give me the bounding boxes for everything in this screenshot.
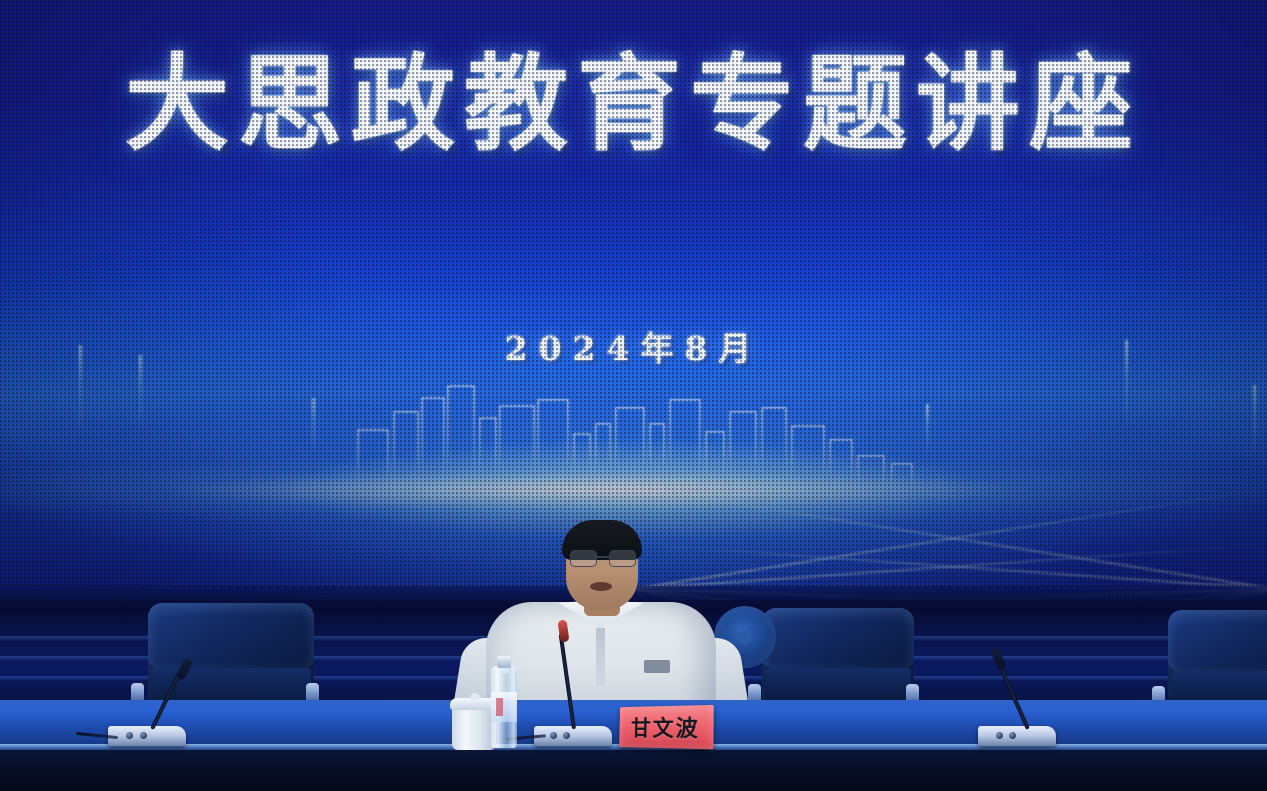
bottle-label: [491, 692, 517, 722]
chair-left-1: [148, 603, 314, 715]
conference-microphone[interactable]: [108, 700, 228, 746]
microphone-button[interactable]: [550, 732, 557, 739]
microphone-button[interactable]: [126, 732, 133, 739]
microphone-button[interactable]: [563, 732, 570, 739]
name-plate-text: 甘文波: [631, 710, 700, 743]
eyeglasses-icon: [570, 550, 634, 565]
slide-title: 大思政教育专题讲座: [0, 48, 1267, 160]
microphone-base[interactable]: [978, 726, 1056, 746]
water-bottle: [491, 650, 517, 748]
conference-microphone[interactable]: [978, 700, 1098, 746]
microphone-button[interactable]: [996, 732, 1003, 739]
chair-right-1: [762, 608, 914, 712]
slide-date: 2024年8月: [0, 322, 1267, 370]
bottle-cap: [497, 656, 511, 668]
microphone-button[interactable]: [1009, 732, 1016, 739]
presidium-desk-front: [0, 750, 1267, 791]
person-mouth: [590, 582, 612, 591]
shirt-logo: [644, 660, 670, 673]
microphone-button[interactable]: [140, 732, 147, 739]
chair-backrest: [762, 608, 914, 668]
mug-knob: [470, 693, 480, 700]
chair-backrest: [148, 603, 314, 668]
bottle-label-stripe: [496, 698, 503, 716]
screenshot-root: 大思政教育专题讲座 2024年8月: [0, 0, 1267, 791]
mug-body: [452, 706, 496, 750]
chair-backrest: [1168, 610, 1267, 671]
polo-placket: [596, 628, 605, 686]
speaker-hub: [738, 630, 752, 644]
tea-mug: [452, 696, 496, 750]
name-plate: 甘文波: [619, 705, 714, 749]
microphone-base[interactable]: [108, 726, 186, 746]
